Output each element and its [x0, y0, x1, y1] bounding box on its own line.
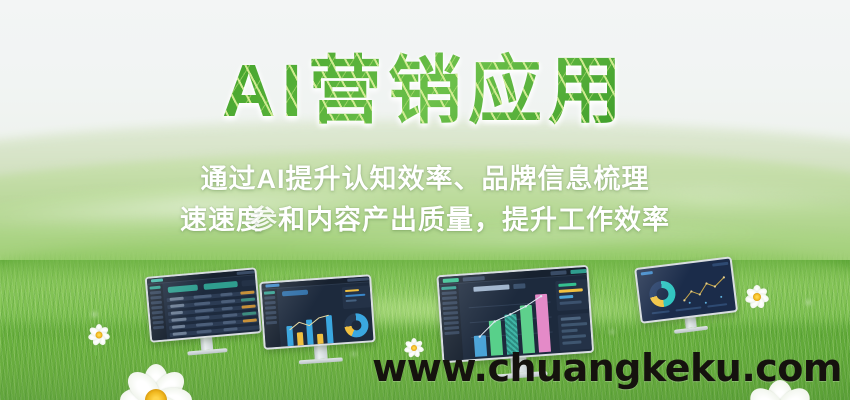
bar-chart-area: [283, 311, 339, 347]
dashboard-bar-donut: [261, 276, 373, 347]
sidebar-row: [152, 311, 163, 315]
sidebar-row: [149, 286, 160, 290]
sidebar-row: [444, 331, 459, 335]
daisy-core: [96, 332, 103, 339]
page-title: AI营销应用: [0, 50, 850, 132]
sidebar-row: [264, 291, 275, 295]
trend-line: [283, 311, 339, 347]
bokeh-4: [806, 300, 811, 305]
sidebar-row: [443, 311, 458, 315]
bokeh-3: [610, 330, 614, 334]
daisy-core: [753, 293, 761, 301]
subtitle-line-1: 通过AI提升认知效率、品牌信息梳理: [0, 157, 850, 196]
sidebar-row: [443, 306, 458, 310]
kpi-card-dark: [241, 279, 255, 286]
screen-bar-donut: [259, 274, 375, 350]
user-chip: [712, 262, 728, 267]
sidebar-row: [266, 321, 277, 325]
sidebar-row: [444, 321, 459, 325]
subtitle-line-2-part-c: 和内容产出质量，提升工作效率: [278, 205, 670, 235]
sidebar-row: [266, 316, 277, 320]
footer-chip: [675, 306, 701, 311]
sidebar-row: [152, 316, 163, 320]
chart-title-badge: [513, 283, 525, 289]
subtitle-line-2: 速速度参和内容产出质量，提升工作效率: [0, 198, 850, 237]
sidebar-row: [265, 301, 276, 305]
sidebar-row: [150, 291, 161, 295]
chart-title-bar: [473, 284, 509, 291]
filter-pill: [282, 290, 308, 297]
sidebar-row: [444, 326, 459, 330]
sidebar-row: [442, 291, 457, 295]
screen-right: [634, 256, 738, 324]
screen-left: [145, 267, 262, 343]
daisy-right-mid: [742, 282, 772, 312]
sidebar-row: [153, 321, 164, 325]
dashboard-left: [147, 269, 260, 340]
site-watermark: www.chuangkeku.com: [372, 346, 842, 390]
sidebar-row: [150, 296, 161, 300]
monitor-bar-donut-dashboard: [259, 274, 377, 367]
sidebar-row: [442, 296, 457, 300]
subtitle-line-2-overlap-glyph: 参: [250, 198, 278, 237]
sidebar-row: [151, 301, 162, 305]
sidebar-row: [264, 296, 275, 300]
dashboard-sidebar: [147, 284, 167, 341]
sidebar-row: [441, 286, 456, 290]
daisy-left-small: [86, 322, 112, 348]
footer-chip: [652, 310, 670, 314]
monitor-left-table-dashboard: [145, 267, 264, 358]
monitor-right-analytics-dashboard: [634, 256, 740, 337]
kpi-card-teal: [168, 284, 198, 293]
kpi-card-teal-2: [203, 281, 237, 290]
sidebar-row: [151, 306, 162, 310]
monitor-neck: [313, 345, 327, 359]
marketing-banner: AI营销应用 通过AI提升认知效率、品牌信息梳理 速速度参和内容产出质量，提升工…: [0, 0, 850, 400]
bokeh-1: [92, 312, 97, 317]
sidebar-row: [442, 301, 457, 305]
sidebar-row: [265, 306, 276, 310]
daisy-left-large: [118, 362, 194, 400]
dashboard-sidebar: [262, 289, 281, 348]
logo-chip: [641, 271, 653, 275]
sidebar-row: [443, 316, 458, 320]
dashboard-right: [636, 259, 736, 322]
sidebar-row: [153, 326, 164, 330]
scatter-dot: [720, 296, 722, 298]
sidebar-row: [265, 311, 276, 315]
